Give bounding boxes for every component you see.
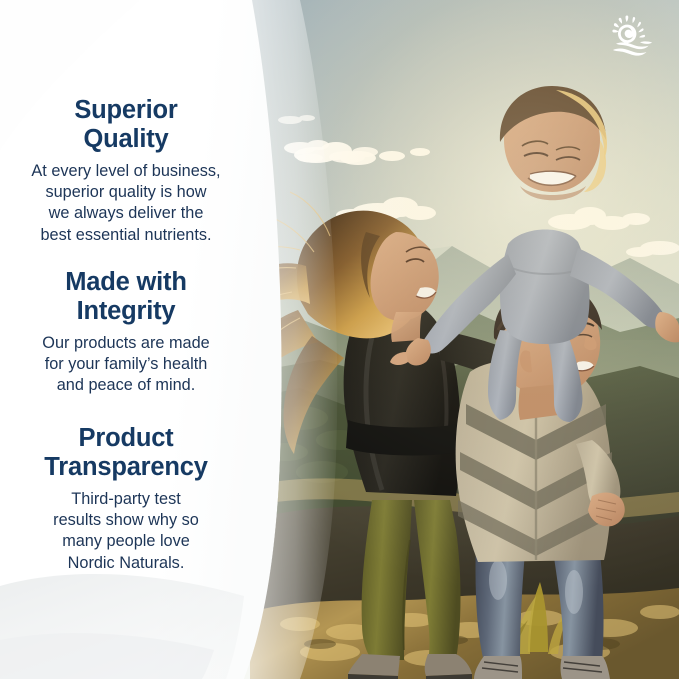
heading-line-2: Integrity [77,297,176,325]
body-line: for your family’s health [0,354,252,375]
heading-superior-quality: Superior Quality [0,96,252,154]
heading-line-2: Transparency [44,453,207,481]
value-prop-superior-quality: Superior Quality At every level of busin… [0,96,252,246]
heading-line-2: Quality [83,125,168,153]
body-superior-quality: At every level of business, superior qua… [0,161,252,246]
body-line: superior quality is how [0,182,252,203]
heading-line-1: Superior [74,96,177,124]
value-prop-product-transparency: Product Transparency Third-party test re… [0,424,252,574]
body-line: we always deliver the [0,203,252,224]
heading-line-1: Made with [65,268,186,296]
body-line: Nordic Naturals. [0,553,252,574]
messaging-column: Superior Quality At every level of busin… [0,0,252,679]
sun-waves-logo [606,12,660,60]
heading-product-transparency: Product Transparency [0,424,252,482]
heading-made-with-integrity: Made with Integrity [0,268,252,326]
heading-line-1: Product [79,424,174,452]
body-line: Our products are made [0,333,252,354]
value-prop-made-with-integrity: Made with Integrity Our products are mad… [0,268,252,397]
body-product-transparency: Third-party test results show why so man… [0,489,252,574]
body-line: many people love [0,531,252,552]
body-made-with-integrity: Our products are made for your family’s … [0,333,252,397]
body-line: At every level of business, [0,161,252,182]
body-line: and peace of mind. [0,375,252,396]
body-line: best essential nutrients. [0,225,252,246]
promotional-banner: Superior Quality At every level of busin… [0,0,679,679]
body-line: Third-party test [0,489,252,510]
body-line: results show why so [0,510,252,531]
